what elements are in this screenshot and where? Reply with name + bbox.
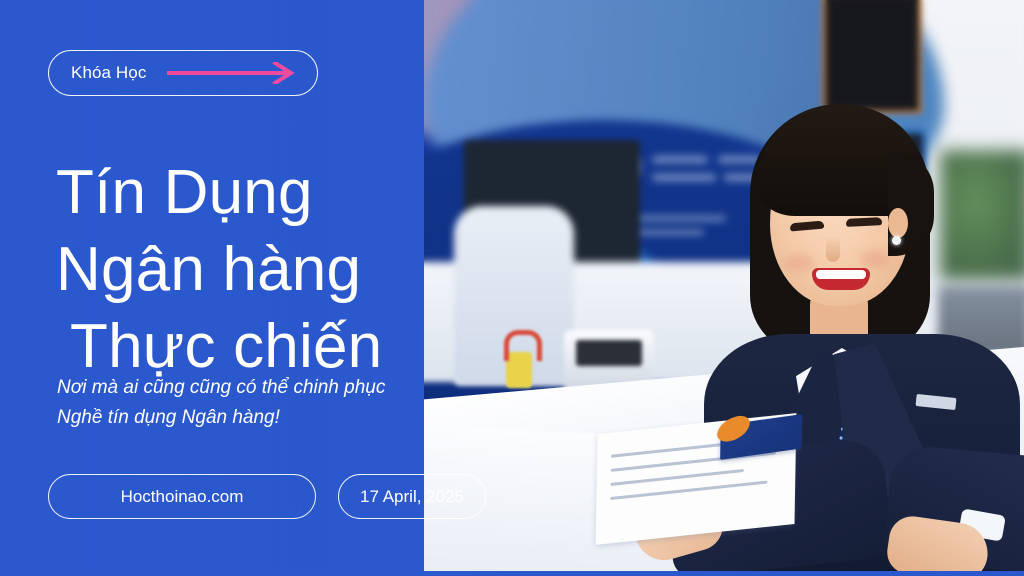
date-pill[interactable]: 17 April, 2025 — [338, 474, 486, 519]
smiling-mouth — [812, 268, 870, 290]
arrow-right-icon — [167, 62, 297, 84]
hair-top — [758, 104, 924, 216]
subtitle-line-2: Nghề tín dụng Ngân hàng! — [57, 403, 385, 433]
date-label: 17 April, 2025 — [360, 487, 464, 507]
cheek-right — [860, 250, 890, 268]
headline-line-1: Tín Dụng — [56, 154, 506, 231]
content-column: Khóa Học Tín Dụng Ngân hàng Thực chiến N… — [0, 0, 520, 576]
subtitle-line-1: Nơi mà ai cũng cũng có thể chinh phục — [57, 373, 385, 403]
cheek-left — [784, 254, 814, 272]
bottom-accent-strip — [0, 571, 1024, 576]
headline-line-2: Ngân hàng — [56, 231, 506, 308]
ear — [888, 208, 908, 238]
website-pill[interactable]: Hocthoinao.com — [48, 474, 316, 519]
subtitle: Nơi mà ai cũng cũng có thể chinh phục Ng… — [57, 373, 385, 433]
course-promo-banner: Khóa Học Tín Dụng Ngân hàng Thực chiến N… — [0, 0, 1024, 576]
website-label: Hocthoinao.com — [121, 487, 244, 507]
page-title: Tín Dụng Ngân hàng Thực chiến — [56, 154, 506, 385]
nose — [826, 236, 840, 262]
course-badge-label: Khóa Học — [71, 63, 146, 83]
earring — [892, 236, 901, 245]
course-badge[interactable]: Khóa Học — [48, 50, 318, 96]
